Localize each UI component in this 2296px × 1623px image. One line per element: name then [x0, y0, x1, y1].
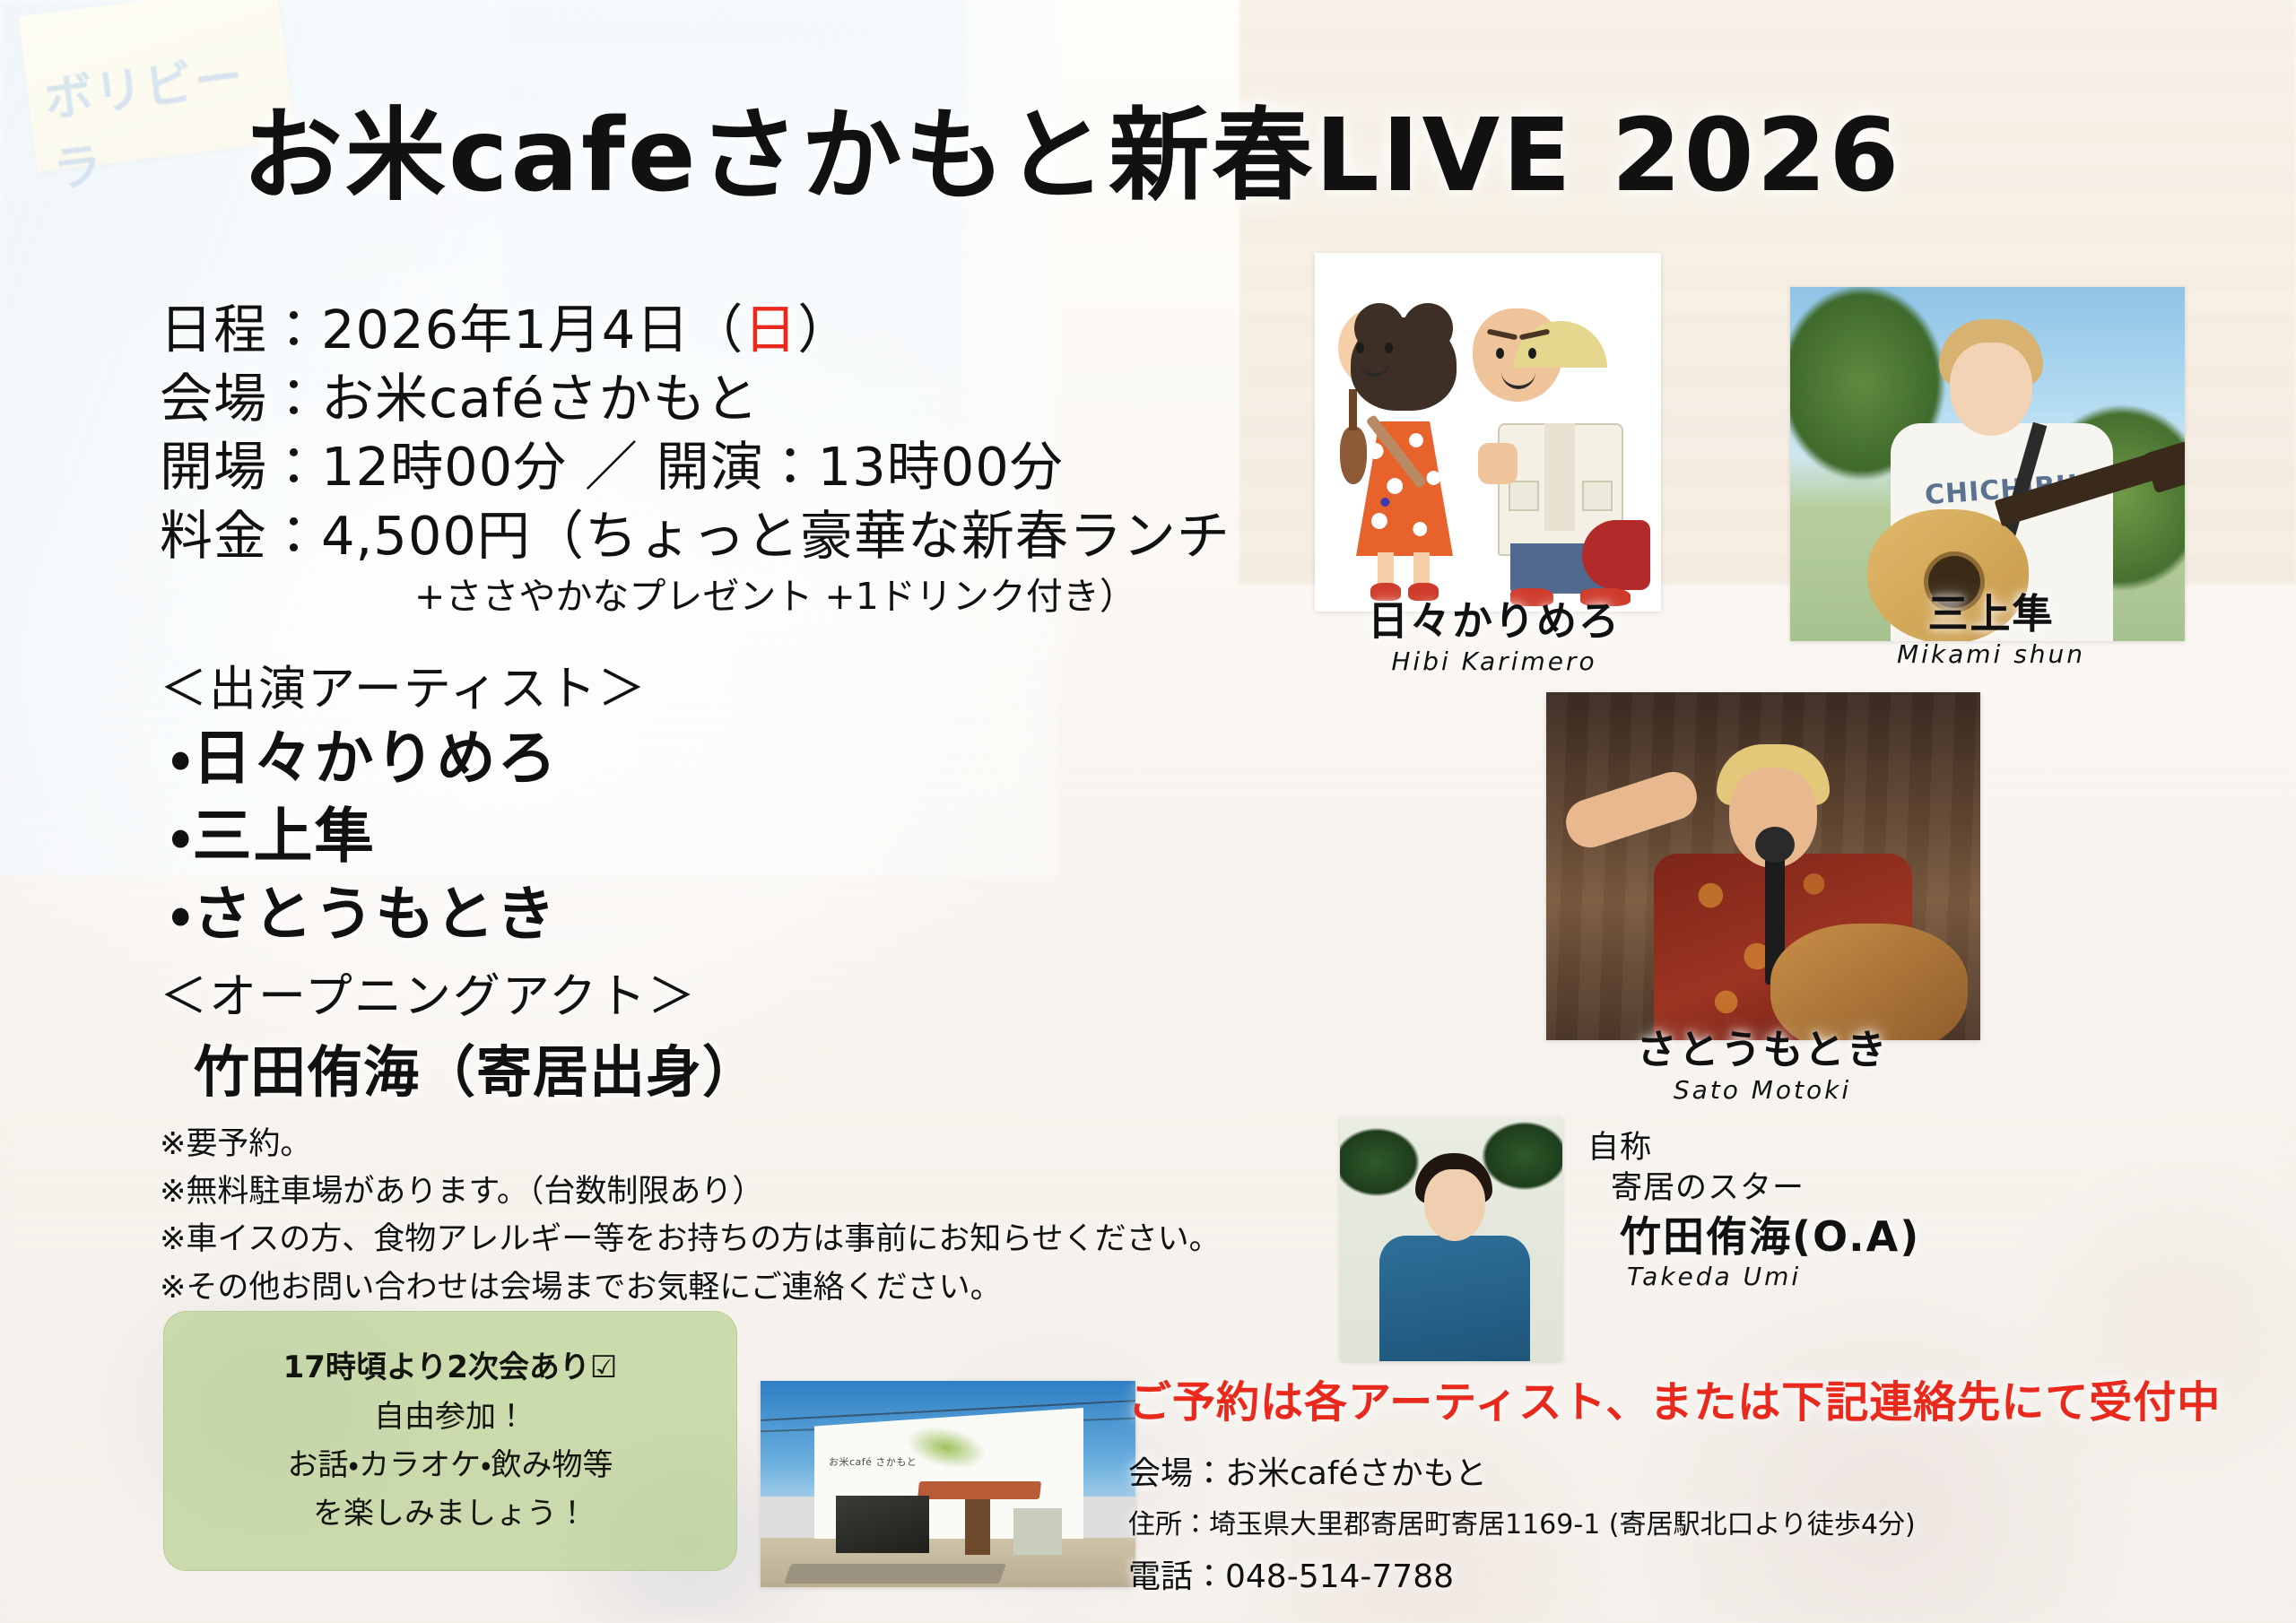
event-poster: ボリビーラ お米cafeさかもと新春LIVE 2026 日程：2026年1月4日…	[0, 0, 2296, 1623]
photo-cafe-exterior: お米café さかもと	[761, 1381, 1135, 1587]
karimero-ukulele	[1340, 427, 1367, 484]
mikami-scene: CHICHIBU	[1790, 287, 2185, 641]
note-accessibility: ※車イスの方、食物アレルギー等をお持ちの方は事前にお知らせください。	[160, 1216, 1221, 1263]
caption-sato-motoki: さとうもとき Sato Motoki	[1561, 1028, 1964, 1108]
caption-mikami-romaji: Mikami shun	[1830, 637, 2152, 673]
karimero-woman-figure	[1338, 308, 1473, 604]
event-date-label: 日程：2026年1月4日（	[160, 299, 744, 360]
lineup-section: ＜出演アーティスト＞ ・日々かりめろ ・三上隼 ・さとうもとき ＜オープニングア…	[160, 651, 759, 1107]
karimero-woman-eye-left	[1356, 343, 1364, 353]
photo-sato-motoki	[1546, 692, 1980, 1040]
karimero-man-eye-left	[1496, 348, 1504, 359]
caption-mikami-jp: 三上隼	[1830, 592, 2152, 637]
reservation-cta: ご予約は各アーティスト、または下記連絡先にて受付中	[1128, 1377, 2221, 1429]
caption-takeda-umi: 自称 寄居のスター 竹田侑海(O.A) Takeda Umi	[1587, 1128, 1920, 1296]
event-details: 日程：2026年1月4日（日） 会場：お米caféさかもと 開場：12時00分 …	[160, 296, 1231, 621]
cafe-signage-text: お米café さかもと	[829, 1454, 917, 1469]
after-party-line-3: お話・カラオケ・飲み物等	[287, 1444, 613, 1487]
mikami-face	[1950, 343, 2032, 436]
karimero-man-bag	[1582, 520, 1650, 590]
caption-sato-romaji: Sato Motoki	[1561, 1072, 1964, 1109]
takeda-foliage-left	[1340, 1117, 1426, 1216]
contact-venue: 会場：お米caféさかもと	[1128, 1445, 2221, 1502]
after-party-line-4: を楽しみましょう！	[313, 1492, 587, 1535]
cafe-walkway	[784, 1564, 1006, 1584]
sato-guitar	[1770, 924, 1968, 1040]
photo-mikami-shun: CHICHIBU	[1790, 287, 2185, 641]
photo-takeda-umi	[1340, 1117, 1562, 1361]
after-party-line-2: 自由参加！	[374, 1395, 526, 1438]
poster-title: お米cafeさかもと新春LIVE 2026	[242, 106, 1901, 206]
opening-act-heading: ＜オープニングアクト＞	[160, 959, 759, 1027]
cafe-entrance-roof	[918, 1481, 1041, 1499]
event-date-close: ）	[797, 299, 851, 360]
event-venue-line: 会場：お米caféさかもと	[160, 365, 1231, 434]
event-price-sub-line: +ささやかなプレゼント +1ドリンク付き）	[414, 573, 1231, 621]
caption-takeda-jp: 竹田侑海(O.A)	[1620, 1214, 1920, 1260]
contact-phone: 電話：048-514-7788	[1128, 1549, 2221, 1605]
cafe-entrance-door	[965, 1499, 990, 1555]
event-date-weekday: 日	[744, 299, 797, 360]
lineup-artist-3: ・さとうもとき	[170, 875, 759, 953]
caption-mikami-shun: 三上隼 Mikami shun	[1830, 592, 2152, 673]
event-price-line: 料金：4,500円（ちょっと豪華な新春ランチ	[160, 502, 1231, 571]
caption-karimero-jp: 日々かりめろ	[1315, 599, 1674, 644]
contact-section: ご予約は各アーティスト、または下記連絡先にて受付中 会場：お米caféさかもと …	[1128, 1377, 2221, 1605]
after-party-line-1: 17時頃より2次会あり☑	[283, 1346, 618, 1389]
caption-takeda-self-proclaimed: 自称	[1587, 1128, 1920, 1168]
note-inquiries: ※その他お問い合わせは会場までお気軽にご連絡ください。	[160, 1264, 1221, 1312]
opening-act-name: 竹田侑海（寄居出身）	[194, 1027, 759, 1107]
cafe-side-window	[1013, 1508, 1062, 1555]
note-parking: ※無料駐車場があります。（台数制限あり）	[160, 1168, 1221, 1216]
notes-section: ※要予約。 ※無料駐車場があります。（台数制限あり） ※車イスの方、食物アレルギ…	[160, 1121, 1221, 1312]
caption-karimero-romaji: Hibi Karimero	[1315, 644, 1674, 681]
karimero-woman-eye-right	[1385, 343, 1393, 353]
takeda-face	[1424, 1169, 1485, 1241]
karimero-man-pocket-left	[1509, 481, 1539, 511]
karimero-man-brow-left	[1487, 329, 1518, 341]
note-reservation: ※要予約。	[160, 1121, 1221, 1168]
caption-sato-jp: さとうもとき	[1561, 1028, 1964, 1072]
karimero-illustration	[1315, 253, 1661, 612]
lineup-artist-1: ・日々かりめろ	[170, 719, 759, 797]
caption-takeda-romaji: Takeda Umi	[1627, 1259, 1920, 1296]
photo-hibi-karimero	[1315, 253, 1661, 612]
sato-scene	[1546, 692, 1980, 1040]
karimero-man-mouth	[1501, 371, 1535, 389]
caption-takeda-star-of-yorii: 寄居のスター	[1611, 1168, 1920, 1209]
contact-address: 住所：埼玉県大里郡寄居町寄居1169-1 (寄居駅北口より徒歩4分)	[1128, 1502, 2221, 1549]
lineup-artist-2: ・三上隼	[170, 797, 759, 875]
event-time-line: 開場：12時00分 ／ 開演：13時00分	[160, 433, 1231, 502]
lineup-heading: ＜出演アーティスト＞	[160, 651, 759, 719]
takeda-shirt	[1379, 1236, 1530, 1361]
event-date-line: 日程：2026年1月4日（日）	[160, 296, 1231, 365]
cafe-glass-facade	[836, 1496, 929, 1553]
karimero-man-pocket-right	[1582, 481, 1613, 511]
karimero-man-eye-right	[1528, 348, 1536, 359]
takeda-scene	[1340, 1117, 1562, 1361]
karimero-man-fist	[1478, 443, 1518, 484]
karimero-dress	[1356, 421, 1453, 556]
after-party-box: 17時頃より2次会あり☑ 自由参加！ お話・カラオケ・飲み物等 を楽しみましょう…	[163, 1311, 737, 1571]
karimero-man-figure	[1473, 308, 1634, 604]
caption-hibi-karimero: 日々かりめろ Hibi Karimero	[1315, 599, 1674, 680]
